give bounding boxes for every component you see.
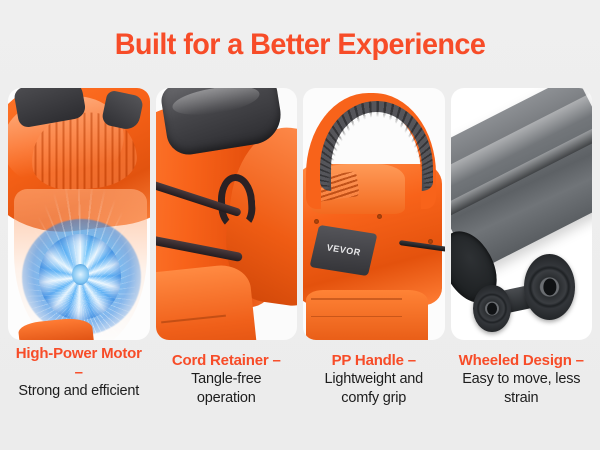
feature-description: Tangle-free operation: [162, 370, 292, 408]
feature-heading: Cord Retainer –: [162, 351, 292, 370]
feature-description: Lightweight and comfy grip: [309, 370, 439, 408]
feature-image-high-power-motor: [8, 88, 150, 340]
feature-heading: PP Handle –: [309, 351, 439, 370]
feature-description: Strong and efficient: [14, 382, 144, 401]
feature-caption-cord-retainer: Cord Retainer – Tangle-free operation: [156, 344, 298, 408]
blower-drum-shape: [156, 263, 260, 340]
wheel-icon: [524, 254, 575, 320]
vevor-brand-badge: VEVOR: [310, 225, 378, 276]
feature-description: Easy to move, less strain: [457, 370, 587, 408]
blower-base-seam-1: [311, 298, 402, 300]
vevor-brand-label: VEVOR: [326, 243, 362, 258]
feature-caption-high-power-motor: High-Power Motor – Strong and efficient: [8, 344, 150, 408]
page-title: Built for a Better Experience: [12, 0, 588, 60]
feature-caption-row: High-Power Motor – Strong and efficient …: [8, 344, 592, 408]
feature-image-wheeled-design: [451, 88, 593, 340]
blower-base-shape: [306, 290, 428, 340]
screw-icon: [377, 214, 382, 219]
feature-panel-row: VEVOR: [8, 88, 592, 340]
feature-image-cord-retainer: [156, 88, 298, 340]
feature-caption-wheeled-design: Wheeled Design – Easy to move, less stra…: [451, 344, 593, 408]
feature-heading: High-Power Motor –: [14, 344, 144, 382]
feature-image-pp-handle: VEVOR: [303, 88, 445, 340]
wheel-icon: [473, 285, 511, 333]
fan-hub-icon: [72, 264, 89, 284]
feature-heading: Wheeled Design –: [457, 351, 587, 370]
feature-caption-pp-handle: PP Handle – Lightweight and comfy grip: [303, 344, 445, 408]
blower-base-seam-2: [311, 316, 402, 318]
